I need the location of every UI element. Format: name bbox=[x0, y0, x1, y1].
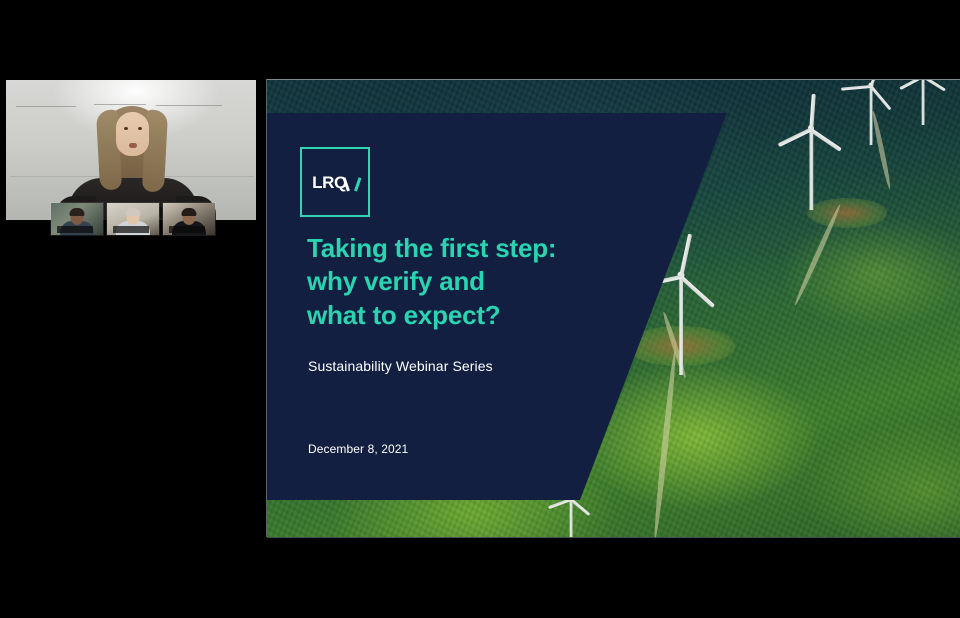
slide-border-bottom bbox=[267, 537, 960, 538]
slide-title: Taking the first step: why verify and wh… bbox=[307, 232, 727, 332]
active-speaker-tile[interactable] bbox=[6, 80, 256, 220]
thumbnail-hair bbox=[70, 208, 85, 216]
thumbnail-hair bbox=[182, 208, 197, 216]
participant-thumbnail[interactable] bbox=[162, 202, 216, 236]
lrqa-logo-letters: LRQ bbox=[312, 174, 347, 191]
slide-title-line-2: why verify and bbox=[307, 265, 727, 298]
slide-title-line-1: Taking the first step: bbox=[307, 232, 727, 265]
participant-thumbnail[interactable] bbox=[50, 202, 104, 236]
lrqa-logo: LRQ bbox=[300, 147, 370, 217]
wall-seam bbox=[156, 105, 222, 106]
speaker-face bbox=[116, 112, 149, 156]
thumbnail-name-label bbox=[169, 226, 205, 233]
participant-thumbnail[interactable] bbox=[106, 202, 160, 236]
thumbnail-name-label bbox=[57, 226, 93, 233]
slide-date: December 8, 2021 bbox=[308, 442, 408, 456]
speaker-eye-right bbox=[138, 127, 142, 130]
shared-presentation-slide[interactable]: LRQ Taking the first step: why verify an… bbox=[267, 80, 960, 537]
screen-stage: LRQ Taking the first step: why verify an… bbox=[0, 0, 960, 618]
slide-title-line-3: what to expect? bbox=[307, 299, 727, 332]
lrqa-chevron-icon bbox=[346, 178, 358, 191]
wall-seam bbox=[16, 106, 76, 107]
lrqa-wordmark: LRQ bbox=[312, 174, 358, 191]
speaker-eye-left bbox=[124, 127, 128, 130]
slide-content: LRQ Taking the first step: why verify an… bbox=[267, 80, 960, 537]
participant-video-panel bbox=[0, 72, 262, 244]
slide-subtitle: Sustainability Webinar Series bbox=[308, 358, 493, 374]
thumbnail-name-label bbox=[113, 226, 149, 233]
speaker-mouth bbox=[129, 143, 137, 148]
thumbnail-hair bbox=[126, 208, 141, 216]
wall-seam bbox=[94, 104, 146, 105]
